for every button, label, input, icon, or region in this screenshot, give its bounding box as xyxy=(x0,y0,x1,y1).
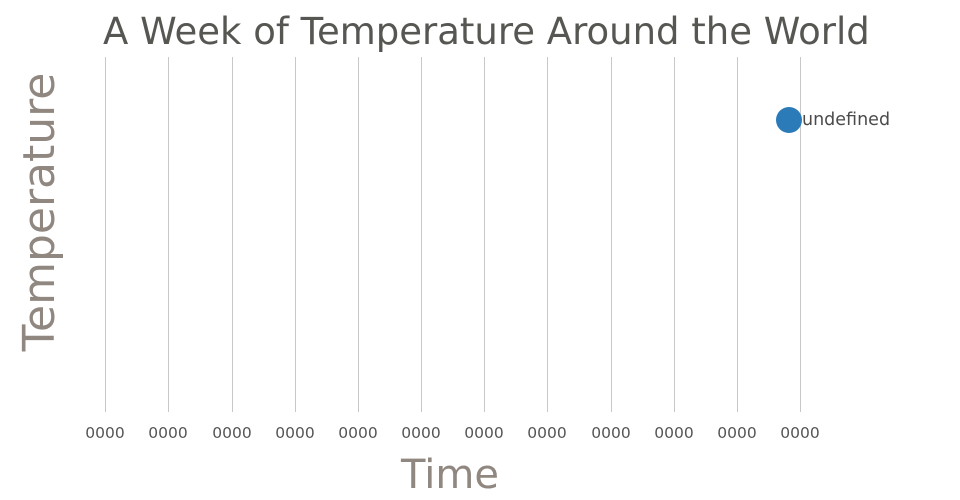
legend-entry-label: undefined xyxy=(802,106,890,134)
x-axis-tick-label: 0000 xyxy=(702,423,772,443)
circle-marker-icon[interactable] xyxy=(776,107,802,133)
gridline xyxy=(547,57,548,412)
x-axis-tick-label: 0000 xyxy=(449,423,519,443)
x-axis-tick-label: 0000 xyxy=(70,423,140,443)
legend-entry-undefined[interactable]: undefined xyxy=(776,106,890,134)
gridline xyxy=(674,57,675,412)
gridline xyxy=(232,57,233,412)
x-axis-tick-label: 0000 xyxy=(512,423,582,443)
x-axis-tick-label: 0000 xyxy=(323,423,393,443)
x-axis-tick-label: 0000 xyxy=(639,423,709,443)
x-axis-tick-label: 0000 xyxy=(197,423,267,443)
x-axis-label: Time xyxy=(0,450,900,500)
gridline xyxy=(295,57,296,412)
gridline xyxy=(168,57,169,412)
chart-container: A Week of Temperature Around the World T… xyxy=(0,0,960,500)
plot-area: 0000000000000000000000000000000000000000… xyxy=(0,0,960,500)
gridline xyxy=(105,57,106,412)
gridline xyxy=(421,57,422,412)
x-axis-tick-label: 0000 xyxy=(576,423,646,443)
x-axis-tick-label: 0000 xyxy=(765,423,835,443)
x-axis-tick-label: 0000 xyxy=(386,423,456,443)
x-axis-tick-label: 0000 xyxy=(260,423,330,443)
gridline xyxy=(484,57,485,412)
gridline xyxy=(737,57,738,412)
gridline xyxy=(358,57,359,412)
gridline xyxy=(611,57,612,412)
x-axis-tick-label: 0000 xyxy=(133,423,203,443)
